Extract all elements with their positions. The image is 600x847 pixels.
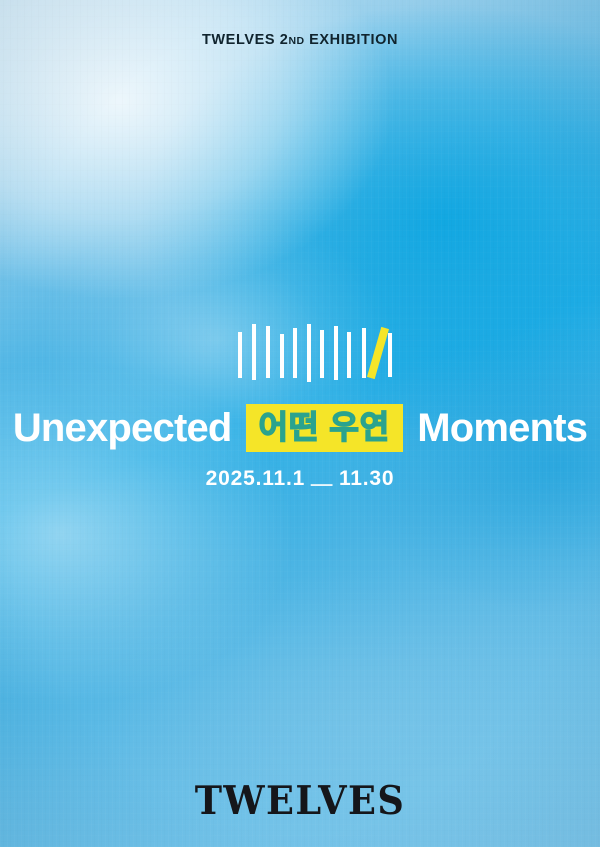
poster-header: TWELVES 2ND EXHIBITION	[0, 32, 600, 48]
date-end: 11.30	[339, 467, 394, 490]
title-korean-text: 어떤 우연	[259, 411, 391, 443]
logo-wordmark: TWELVES	[195, 782, 406, 821]
mark-bar	[347, 332, 351, 378]
mark-bar	[238, 332, 242, 378]
title-korean-highlight: 어떤 우연	[246, 404, 404, 452]
title-word-after: Moments	[417, 408, 587, 448]
mark-bar	[307, 324, 311, 382]
vertical-bars-mark	[0, 324, 600, 390]
date-start: 2025.11.1	[206, 467, 305, 490]
header-event-word: EXHIBITION	[309, 32, 398, 48]
mark-bar	[266, 326, 270, 378]
exhibition-poster: TWELVES 2ND EXHIBITION Unexpected 어떤 우연 …	[0, 0, 600, 847]
title-word-before: Unexpected	[13, 408, 232, 448]
poster-title: Unexpected 어떤 우연 Moments	[0, 404, 600, 452]
mark-bar	[334, 326, 338, 380]
mark-bar	[293, 328, 297, 378]
mark-bar	[320, 330, 324, 378]
header-brand: TWELVES	[202, 32, 275, 48]
date-separator: ＿	[305, 460, 339, 490]
mark-bar	[362, 328, 366, 378]
header-edition-ordinal: ND	[288, 35, 304, 47]
accent-slash-bar	[367, 327, 389, 379]
exhibition-date-range: 2025.11.1＿11.30	[0, 462, 600, 492]
mark-bar	[388, 333, 392, 377]
mark-bar	[280, 334, 284, 378]
footer-logo: TWELVES	[0, 782, 600, 821]
mark-bar	[252, 324, 256, 380]
